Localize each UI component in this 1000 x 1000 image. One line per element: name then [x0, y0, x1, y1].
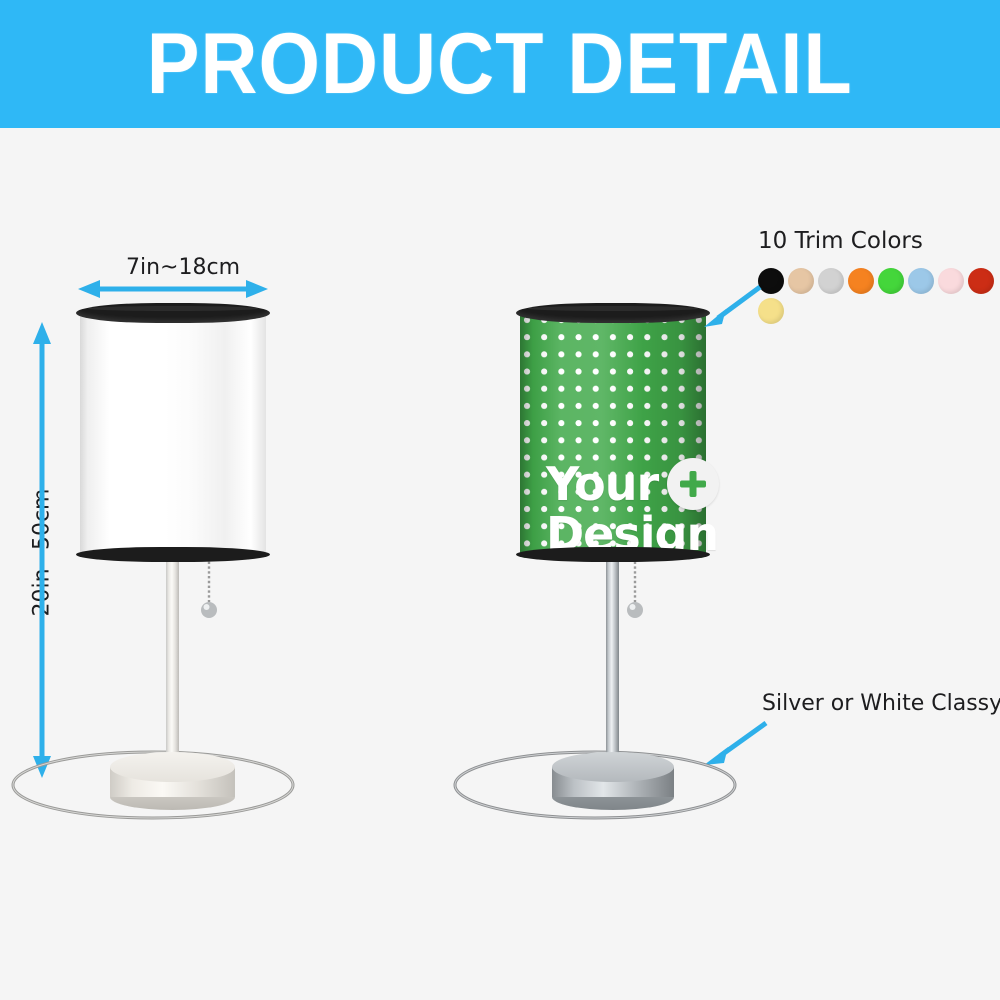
base-finish-label: Silver or White Classy: [762, 691, 1000, 716]
lamp-shade-green: Your Design: [520, 312, 706, 558]
trim-color-swatch-grid: [758, 268, 1000, 328]
trim-colors-heading: 10 Trim Colors: [758, 228, 1000, 254]
height-dimension-arrow: [31, 322, 53, 778]
lamp-base-silver: [552, 752, 674, 810]
trim-colors-callout: 10 Trim Colors: [758, 228, 1000, 328]
width-dimension-label: 7in~18cm: [126, 255, 240, 280]
trim-colors-pointer-arrow: [700, 282, 766, 328]
header-banner: PRODUCT DETAIL: [0, 0, 1000, 128]
shade-trim-bottom-white: [76, 547, 270, 562]
shade-trim-top-white: [76, 303, 270, 323]
trim-swatch-orange[interactable]: [848, 268, 874, 294]
shade-trim-top-green: [516, 303, 710, 323]
shade-surface-green: [520, 312, 706, 558]
page-title: PRODUCT DETAIL: [147, 15, 853, 114]
trim-swatch-pink[interactable]: [938, 268, 964, 294]
width-dimension-arrow: [78, 278, 268, 300]
pull-chain-white[interactable]: [196, 552, 222, 624]
trim-swatch-light-gray[interactable]: [818, 268, 844, 294]
lamp-pole-silver: [606, 556, 619, 768]
lamp-shade-white: [80, 312, 266, 558]
trim-swatch-tan[interactable]: [788, 268, 814, 294]
shade-trim-bottom-green: [516, 547, 710, 562]
lamp-base-white: [110, 752, 235, 810]
trim-swatch-light-blue[interactable]: [908, 268, 934, 294]
pull-chain-silver[interactable]: [622, 552, 648, 624]
lamp-pole-white: [166, 556, 179, 768]
trim-swatch-red[interactable]: [968, 268, 994, 294]
shade-surface-white: [80, 312, 266, 558]
trim-swatch-green[interactable]: [878, 268, 904, 294]
